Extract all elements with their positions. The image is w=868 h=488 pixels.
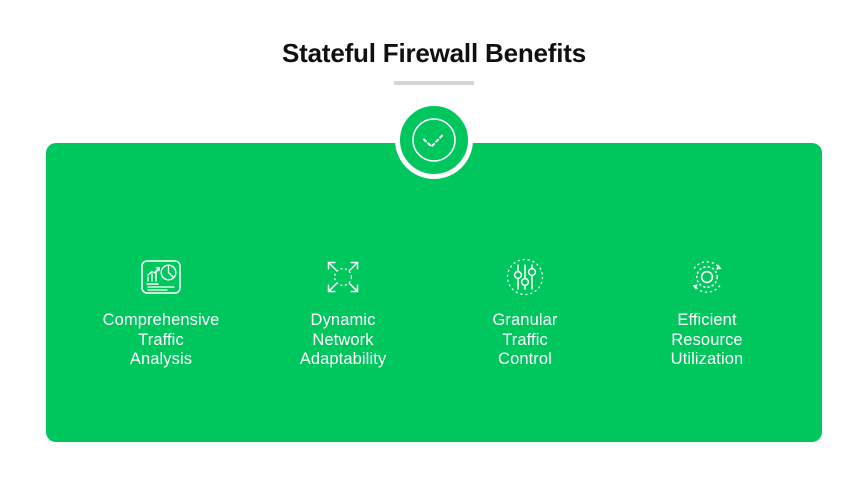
check-circle-icon: [411, 117, 457, 163]
benefit-label: Efficient Resource Utilization: [671, 311, 744, 370]
traffic-analytics-icon: [139, 255, 183, 299]
expand-arrows-icon: [321, 255, 365, 299]
benefit-item[interactable]: Efficient Resource Utilization: [616, 143, 798, 370]
benefit-item[interactable]: Comprehensive Traffic Analysis: [70, 143, 252, 370]
benefit-item[interactable]: Dynamic Network Adaptability: [252, 143, 434, 370]
benefits-columns: Comprehensive Traffic Analysis Dynamic N…: [46, 143, 822, 442]
header: Stateful Firewall Benefits: [0, 36, 868, 85]
page-title: Stateful Firewall Benefits: [0, 36, 868, 70]
benefit-item[interactable]: Granular Traffic Control: [434, 143, 616, 370]
sliders-control-icon: [503, 255, 547, 299]
check-circle-badge: [395, 101, 473, 179]
infographic-stage: Stateful Firewall Benefits: [0, 0, 868, 488]
title-divider: [394, 81, 474, 85]
benefit-label: Comprehensive Traffic Analysis: [103, 311, 220, 370]
gear-refresh-icon: [685, 255, 729, 299]
benefit-label: Dynamic Network Adaptability: [300, 311, 387, 370]
benefit-label: Granular Traffic Control: [493, 311, 558, 370]
